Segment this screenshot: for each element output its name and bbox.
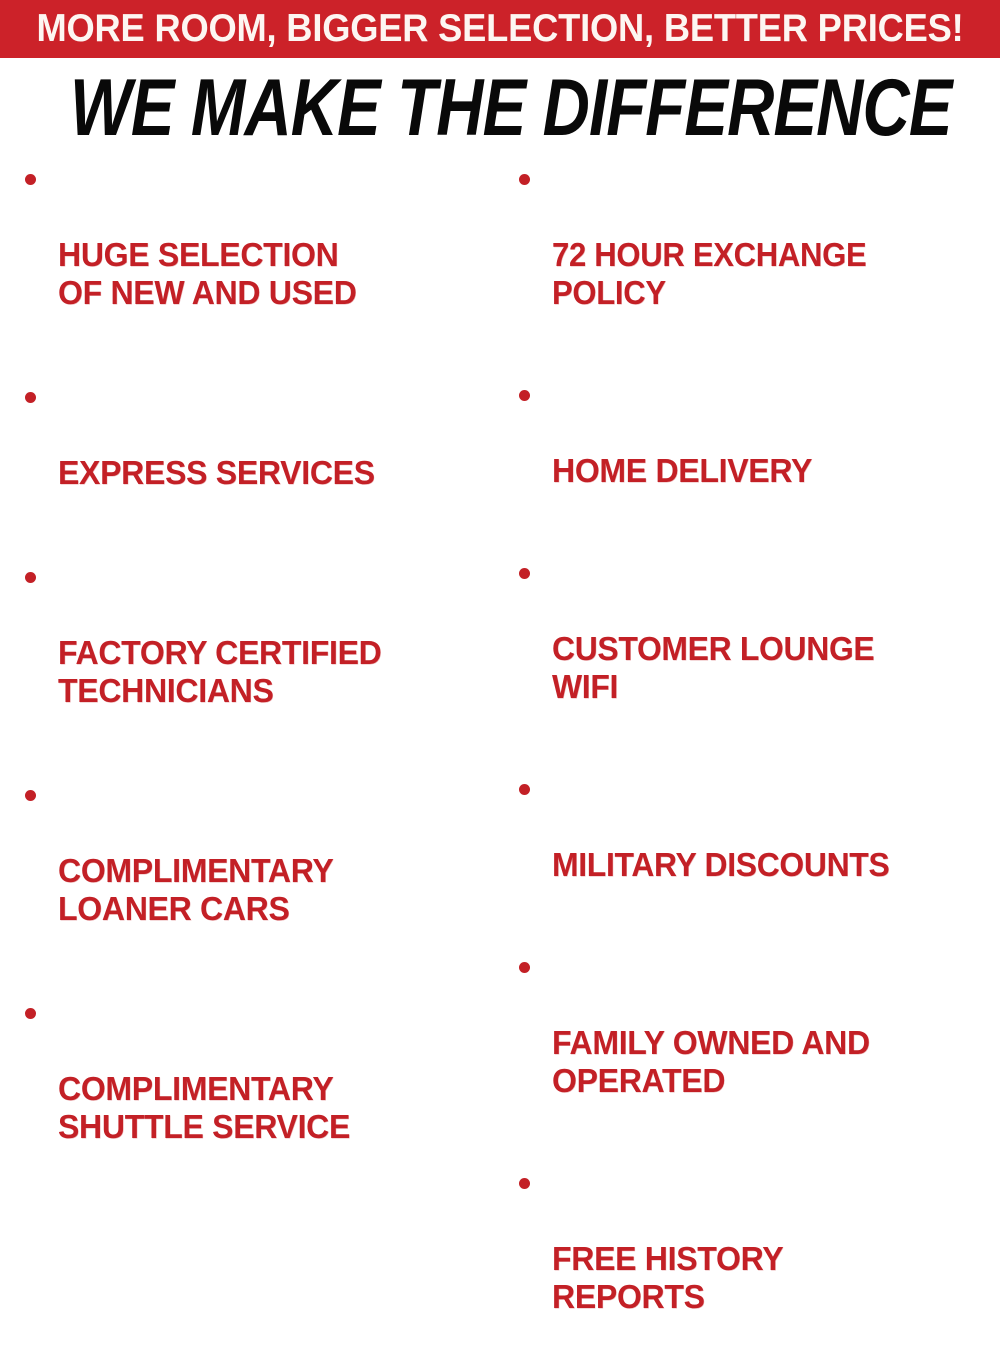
bullet-dot-icon [25, 790, 36, 801]
list-item-label: HUGE SELECTION OF NEW AND USED [58, 236, 487, 312]
list-item: FAMILY OWNED AND OPERATED [512, 948, 1000, 1138]
list-item-label: FAMILY OWNED AND OPERATED [552, 1024, 987, 1100]
list-item: 72 HOUR EXCHANGE POLICY [512, 160, 1000, 350]
list-item-label: MILITARY DISCOUNTS [552, 846, 984, 884]
bullet-dot-icon [519, 174, 530, 185]
list-item: COMPLIMENTARY LOANER CARS [18, 776, 500, 966]
list-item-label: FACTORY CERTIFIED TECHNICIANS [58, 634, 487, 710]
list-item: COMPLIMENTARY SHUTTLE SERVICE [18, 994, 500, 1184]
list-item-label: EXPRESS SERVICES [58, 454, 487, 492]
list-item-label: FREE HISTORY REPORTS [552, 1240, 987, 1316]
list-item: EXPRESS SERVICES [18, 378, 500, 530]
bullet-dot-icon [25, 1008, 36, 1019]
bullet-dot-icon [519, 962, 530, 973]
bullet-dot-icon [25, 392, 36, 403]
top-banner: MORE ROOM, BIGGER SELECTION, BETTER PRIC… [0, 0, 1000, 58]
page-title: WE MAKE THE DIFFERENCE [70, 68, 930, 149]
benefits-column-right: 72 HOUR EXCHANGE POLICY HOME DELIVERY CU… [512, 160, 1000, 694]
benefits-columns: HUGE SELECTION OF NEW AND USED EXPRESS S… [0, 160, 1000, 694]
list-item-label: HOME DELIVERY [552, 452, 987, 490]
list-item-label: 72 HOUR EXCHANGE POLICY [552, 236, 973, 312]
bullet-dot-icon [519, 1178, 530, 1189]
list-item: HUGE SELECTION OF NEW AND USED [18, 160, 500, 350]
list-item: MILITARY DISCOUNTS [512, 770, 1000, 922]
banner-headline-text: MORE ROOM, BIGGER SELECTION, BETTER PRIC… [35, 0, 965, 58]
list-item: FREE HISTORY REPORTS [512, 1164, 1000, 1354]
list-item-label: COMPLIMENTARY SHUTTLE SERVICE [58, 1070, 487, 1146]
bullet-dot-icon [519, 568, 530, 579]
bullet-dot-icon [519, 784, 530, 795]
bullet-dot-icon [25, 174, 36, 185]
poster-canvas: MORE ROOM, BIGGER SELECTION, BETTER PRIC… [0, 0, 1000, 694]
bullet-dot-icon [25, 572, 36, 583]
benefits-column-left: HUGE SELECTION OF NEW AND USED EXPRESS S… [18, 160, 500, 694]
list-item: HOME DELIVERY [512, 376, 1000, 528]
list-item-label: CUSTOMER LOUNGE WIFI [552, 630, 984, 706]
list-item: FACTORY CERTIFIED TECHNICIANS [18, 558, 500, 748]
list-item-label: COMPLIMENTARY LOANER CARS [58, 852, 487, 928]
list-item: CUSTOMER LOUNGE WIFI [512, 554, 1000, 744]
bullet-dot-icon [519, 390, 530, 401]
